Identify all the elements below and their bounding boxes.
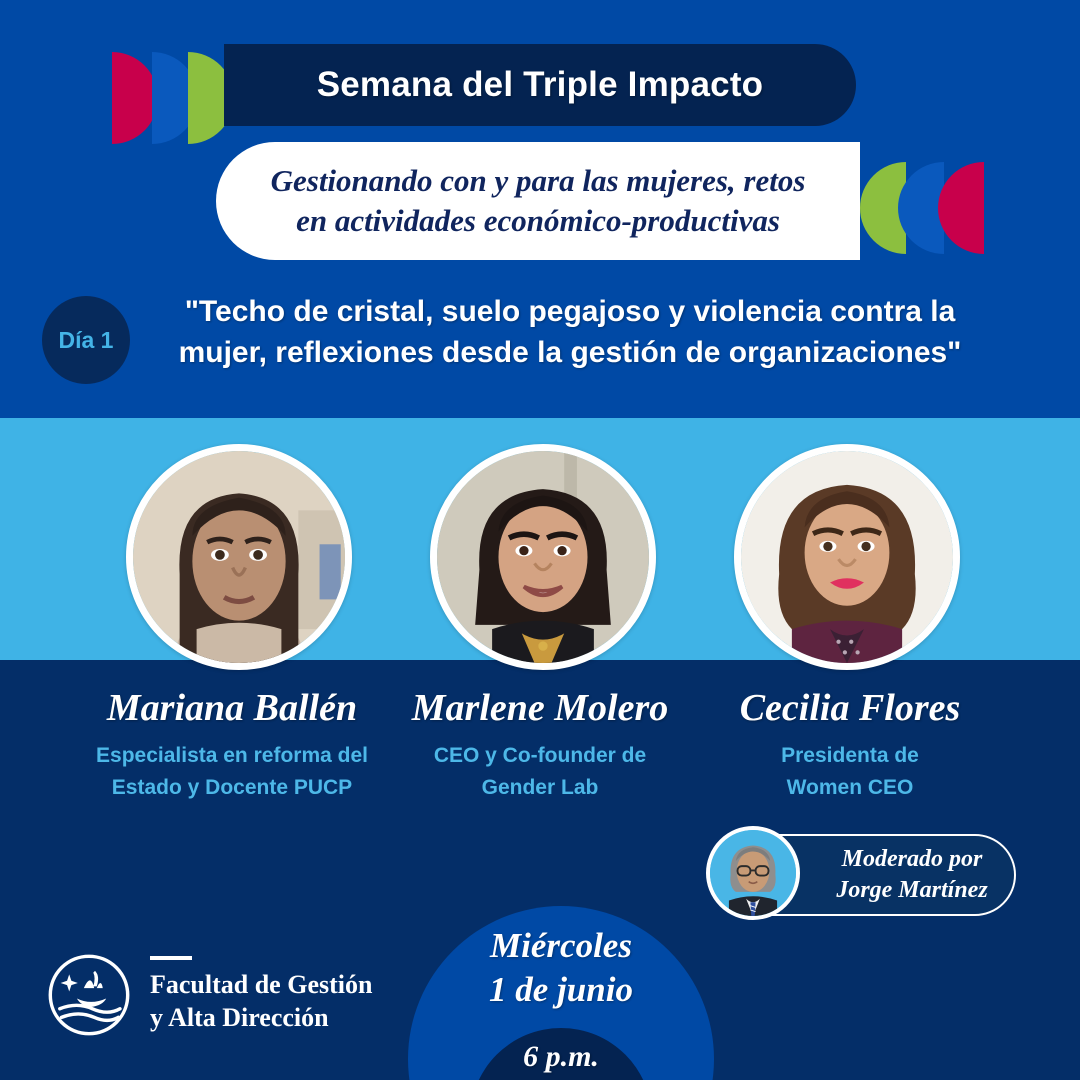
session-headline: "Techo de cristal, suelo pegajoso y viol…: [140, 292, 1000, 374]
day-badge-label: Día 1: [59, 327, 114, 354]
speaker-block-3: Cecilia Flores Presidenta de Women CEO: [700, 688, 1000, 805]
speaker-name-2: Marlene Molero: [390, 688, 690, 730]
series-title-banner: Semana del Triple Impacto: [224, 44, 856, 126]
date-day-number: 1 de junio: [408, 968, 714, 1012]
speaker-photo-3: [734, 444, 960, 670]
moderator-pill: Moderado por Jorge Martínez: [764, 834, 1016, 916]
speaker-block-2: Marlene Molero CEO y Co-founder de Gende…: [390, 688, 690, 805]
subtitle-banner: Gestionando con y para las mujeres, reto…: [216, 142, 860, 260]
portrait-illustration-moderator: [710, 830, 796, 916]
subtitle-line-2: en actividades económico-productivas: [296, 201, 780, 241]
speaker-photo-2: [430, 444, 656, 670]
speaker-name-1: Mariana Ballén: [82, 688, 382, 730]
speaker-role-1-line-2: Estado y Docente PUCP: [82, 772, 382, 805]
event-time: 6 p.m.: [408, 1040, 714, 1074]
speaker-role-3-line-2: Women CEO: [700, 772, 1000, 805]
speaker-role-2: CEO y Co-founder de Gender Lab: [390, 740, 690, 805]
faculty-name-line-1: Facultad de Gestión: [150, 969, 372, 1001]
speaker-role-2-line-1: CEO y Co-founder de: [390, 740, 690, 773]
series-title-text: Semana del Triple Impacto: [317, 65, 764, 105]
speaker-name-3: Cecilia Flores: [700, 688, 1000, 730]
speaker-role-2-line-2: Gender Lab: [390, 772, 690, 805]
speaker-role-3: Presidenta de Women CEO: [700, 740, 1000, 805]
speaker-role-1: Especialista en reforma del Estado y Doc…: [82, 740, 382, 805]
event-poster: Semana del Triple Impacto Gestionando co…: [0, 0, 1080, 1080]
speaker-role-1-line-1: Especialista en reforma del: [82, 740, 382, 773]
date-text-block: Miércoles 1 de junio: [408, 924, 714, 1013]
portrait-illustration-3: [741, 451, 953, 663]
subtitle-line-1: Gestionando con y para las mujeres, reto…: [271, 161, 806, 201]
faculty-logo-text: Facultad de Gestión y Alta Dirección: [150, 956, 372, 1033]
moderator-label: Moderado por: [842, 844, 983, 875]
day-badge: Día 1: [42, 296, 130, 384]
moderator-block: Moderado por Jorge Martínez: [706, 826, 1016, 926]
speaker-photo-1: [126, 444, 352, 670]
portrait-illustration-1: [133, 451, 345, 663]
speaker-role-3-line-1: Presidenta de: [700, 740, 1000, 773]
moderator-name: Jorge Martínez: [836, 875, 987, 906]
ship-and-star-emblem-icon: [46, 952, 132, 1038]
speaker-block-1: Mariana Ballén Especialista en reforma d…: [82, 688, 382, 805]
logo-divider-rule: [150, 956, 192, 960]
portrait-illustration-2: [437, 451, 649, 663]
moderator-photo: [706, 826, 800, 920]
faculty-name-line-2: y Alta Dirección: [150, 1002, 372, 1034]
date-day-name: Miércoles: [408, 924, 714, 968]
faculty-logo: Facultad de Gestión y Alta Dirección: [46, 952, 372, 1038]
